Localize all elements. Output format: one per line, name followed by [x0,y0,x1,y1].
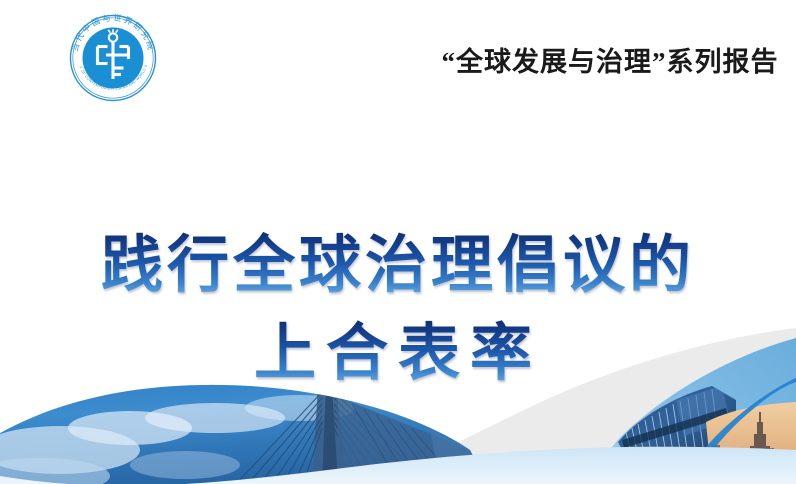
cover-slide: 当代中国与世界研究院 ACADEMY OF CONTEMPORARY CHINA… [0,0,796,484]
report-series-label: “全球发展与治理”系列报告 [440,40,780,79]
bottom-artwork [0,300,796,484]
institution-logo: 当代中国与世界研究院 ACADEMY OF CONTEMPORARY CHINA… [66,11,160,105]
title-line-1: 践行全球治理倡议的 [0,222,796,310]
bottom-artwork-svg [0,300,796,484]
institution-logo-svg: 当代中国与世界研究院 ACADEMY OF CONTEMPORARY CHINA… [66,11,160,105]
